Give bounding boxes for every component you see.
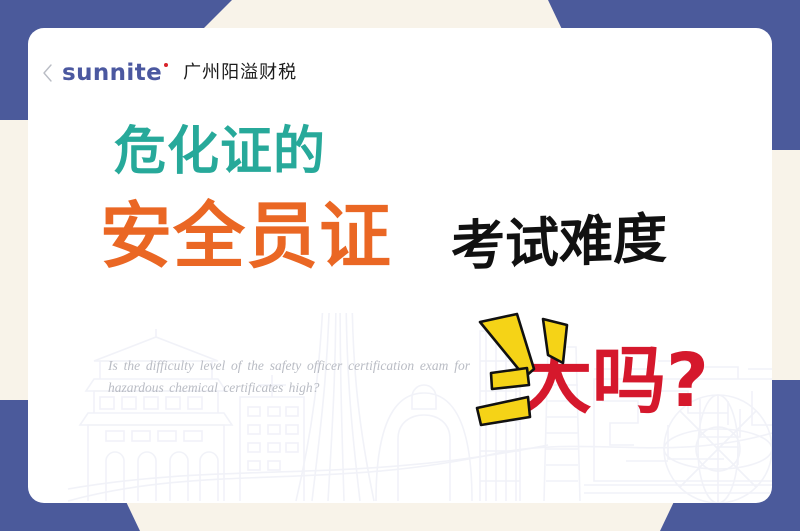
content-card: sunnite 广州阳溢财税 危化证的 安全员证 考试难度 大吗? Is the… — [28, 28, 772, 503]
yellow-burst-icon — [471, 311, 591, 431]
headline-line-3: 考试难度 — [451, 212, 667, 274]
header-bar: sunnite 广州阳溢财税 — [42, 58, 297, 88]
headline-line-1: 危化证的 — [114, 126, 326, 178]
logo-dot-icon — [164, 63, 168, 67]
burst-ray-mid — [491, 368, 529, 389]
burst-ray-bottom — [477, 397, 530, 425]
brand-name-cn: 广州阳溢财税 — [183, 64, 297, 82]
subtitle-english: Is the difficulty level of the safety of… — [108, 355, 470, 399]
burst-ray-small-top — [543, 319, 567, 363]
poster-root: sunnite 广州阳溢财税 危化证的 安全员证 考试难度 大吗? Is the… — [0, 0, 800, 531]
sunnite-logo[interactable]: sunnite — [62, 62, 168, 85]
logo-wordmark: sunnite — [62, 62, 162, 85]
headline-line-2: 安全员证 — [100, 200, 392, 272]
chevron-left-icon[interactable] — [42, 64, 53, 82]
